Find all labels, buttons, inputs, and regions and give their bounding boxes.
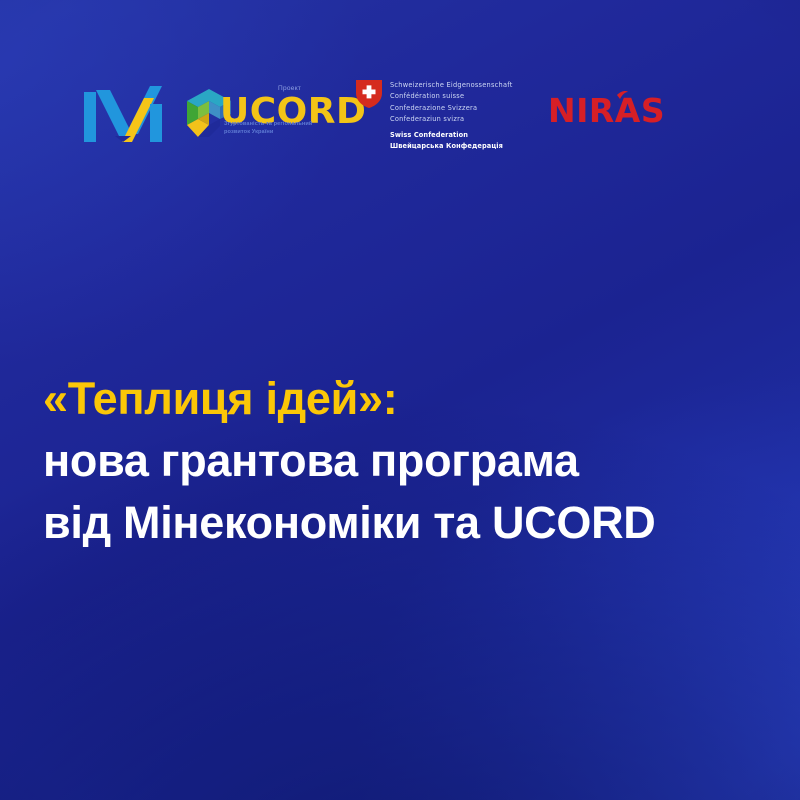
poster-canvas: UCORD Проект Згуртованість та регіональн… <box>0 0 800 800</box>
svg-text:NIRAS: NIRAS <box>548 91 665 130</box>
headline-line-3: від Мінекономіки та UCORD <box>43 492 767 554</box>
logo-bar: UCORD Проект Згуртованість та регіональн… <box>0 68 800 160</box>
ucord-tagline: Згуртованість та регіональний розвиток У… <box>224 120 328 137</box>
swiss-bold-lines: Swiss Confederation Швейцарська Конфедер… <box>390 130 503 153</box>
swiss-confederation-logo: Schweizerische Eidgenossenschaft Confédé… <box>356 74 526 154</box>
swiss-cross-shield-icon <box>356 80 382 108</box>
ucord-project-label: Проект <box>278 85 301 92</box>
swiss-language-lines: Schweizerische Eidgenossenschaft Confédé… <box>390 80 513 125</box>
headline-block: «Теплиця ідей»: нова грантова програма в… <box>43 368 767 554</box>
headline-line-1: «Теплиця ідей»: <box>43 368 767 430</box>
ministry-of-economy-logo <box>84 86 162 142</box>
ministry-m-mark-icon <box>84 86 162 142</box>
niras-logo: NIRAS <box>548 90 672 130</box>
niras-wordmark-icon: NIRAS <box>548 90 672 130</box>
ucord-logo: UCORD Проект Згуртованість та регіональн… <box>186 86 326 144</box>
headline-line-2: нова грантова програма <box>43 430 767 492</box>
